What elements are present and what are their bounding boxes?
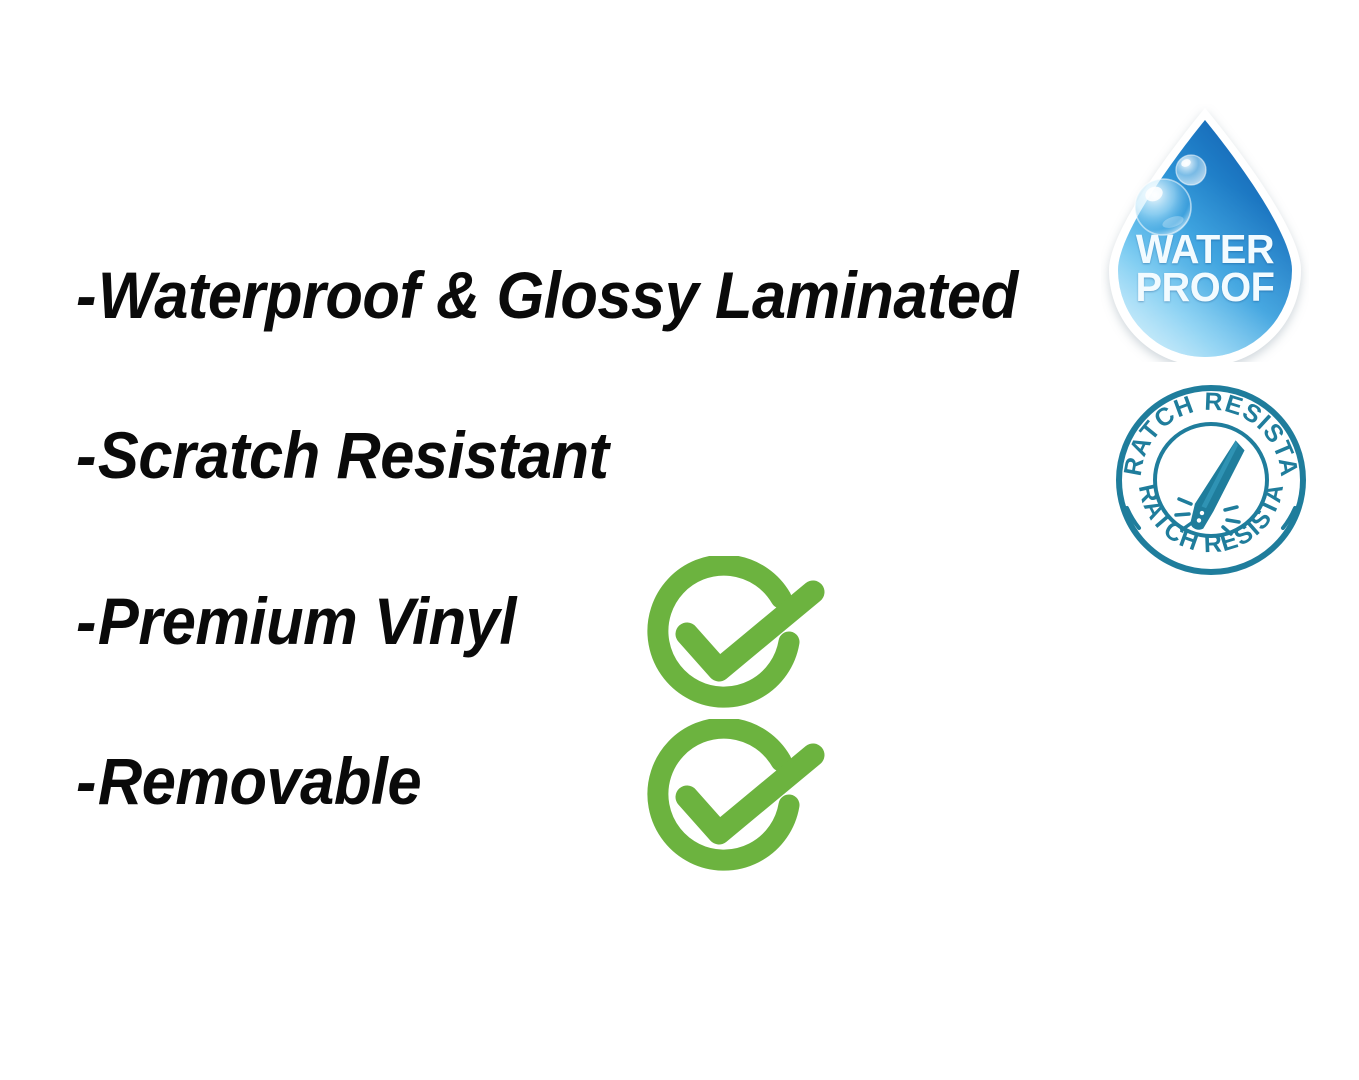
promo-feature-graphic: -Waterproof & Glossy Laminated -Scratch … xyxy=(0,0,1359,1080)
feature-bullet-dash: - xyxy=(76,748,96,814)
drop-sheen xyxy=(1118,120,1292,357)
feature-item-premium-vinyl: -Premium Vinyl xyxy=(76,588,516,654)
feature-bullet-dash: - xyxy=(76,262,96,328)
feature-label: Waterproof & Glossy Laminated xyxy=(98,258,1018,332)
feature-item-scratch-resistant: -Scratch Resistant xyxy=(76,422,608,488)
feature-bullet-dash: - xyxy=(76,588,96,654)
scratch-resistant-badge: SCRATCH RESISTANT SCRATCH RESISTANT xyxy=(1113,382,1309,578)
feature-label: Premium Vinyl xyxy=(98,584,516,658)
water-bubble-small xyxy=(1176,155,1206,185)
feature-item-waterproof-glossy-laminated: -Waterproof & Glossy Laminated xyxy=(76,262,1018,328)
check-circle-icon-1 xyxy=(641,556,827,716)
feature-label: Removable xyxy=(98,744,421,818)
feature-label: Scratch Resistant xyxy=(98,418,609,492)
check-circle-icon-2 xyxy=(641,719,827,879)
water-bubble-large xyxy=(1135,179,1191,235)
feature-bullet-dash: - xyxy=(76,422,96,488)
feature-item-removable: -Removable xyxy=(76,748,421,814)
waterproof-badge: WATER PROOF xyxy=(1101,104,1309,362)
